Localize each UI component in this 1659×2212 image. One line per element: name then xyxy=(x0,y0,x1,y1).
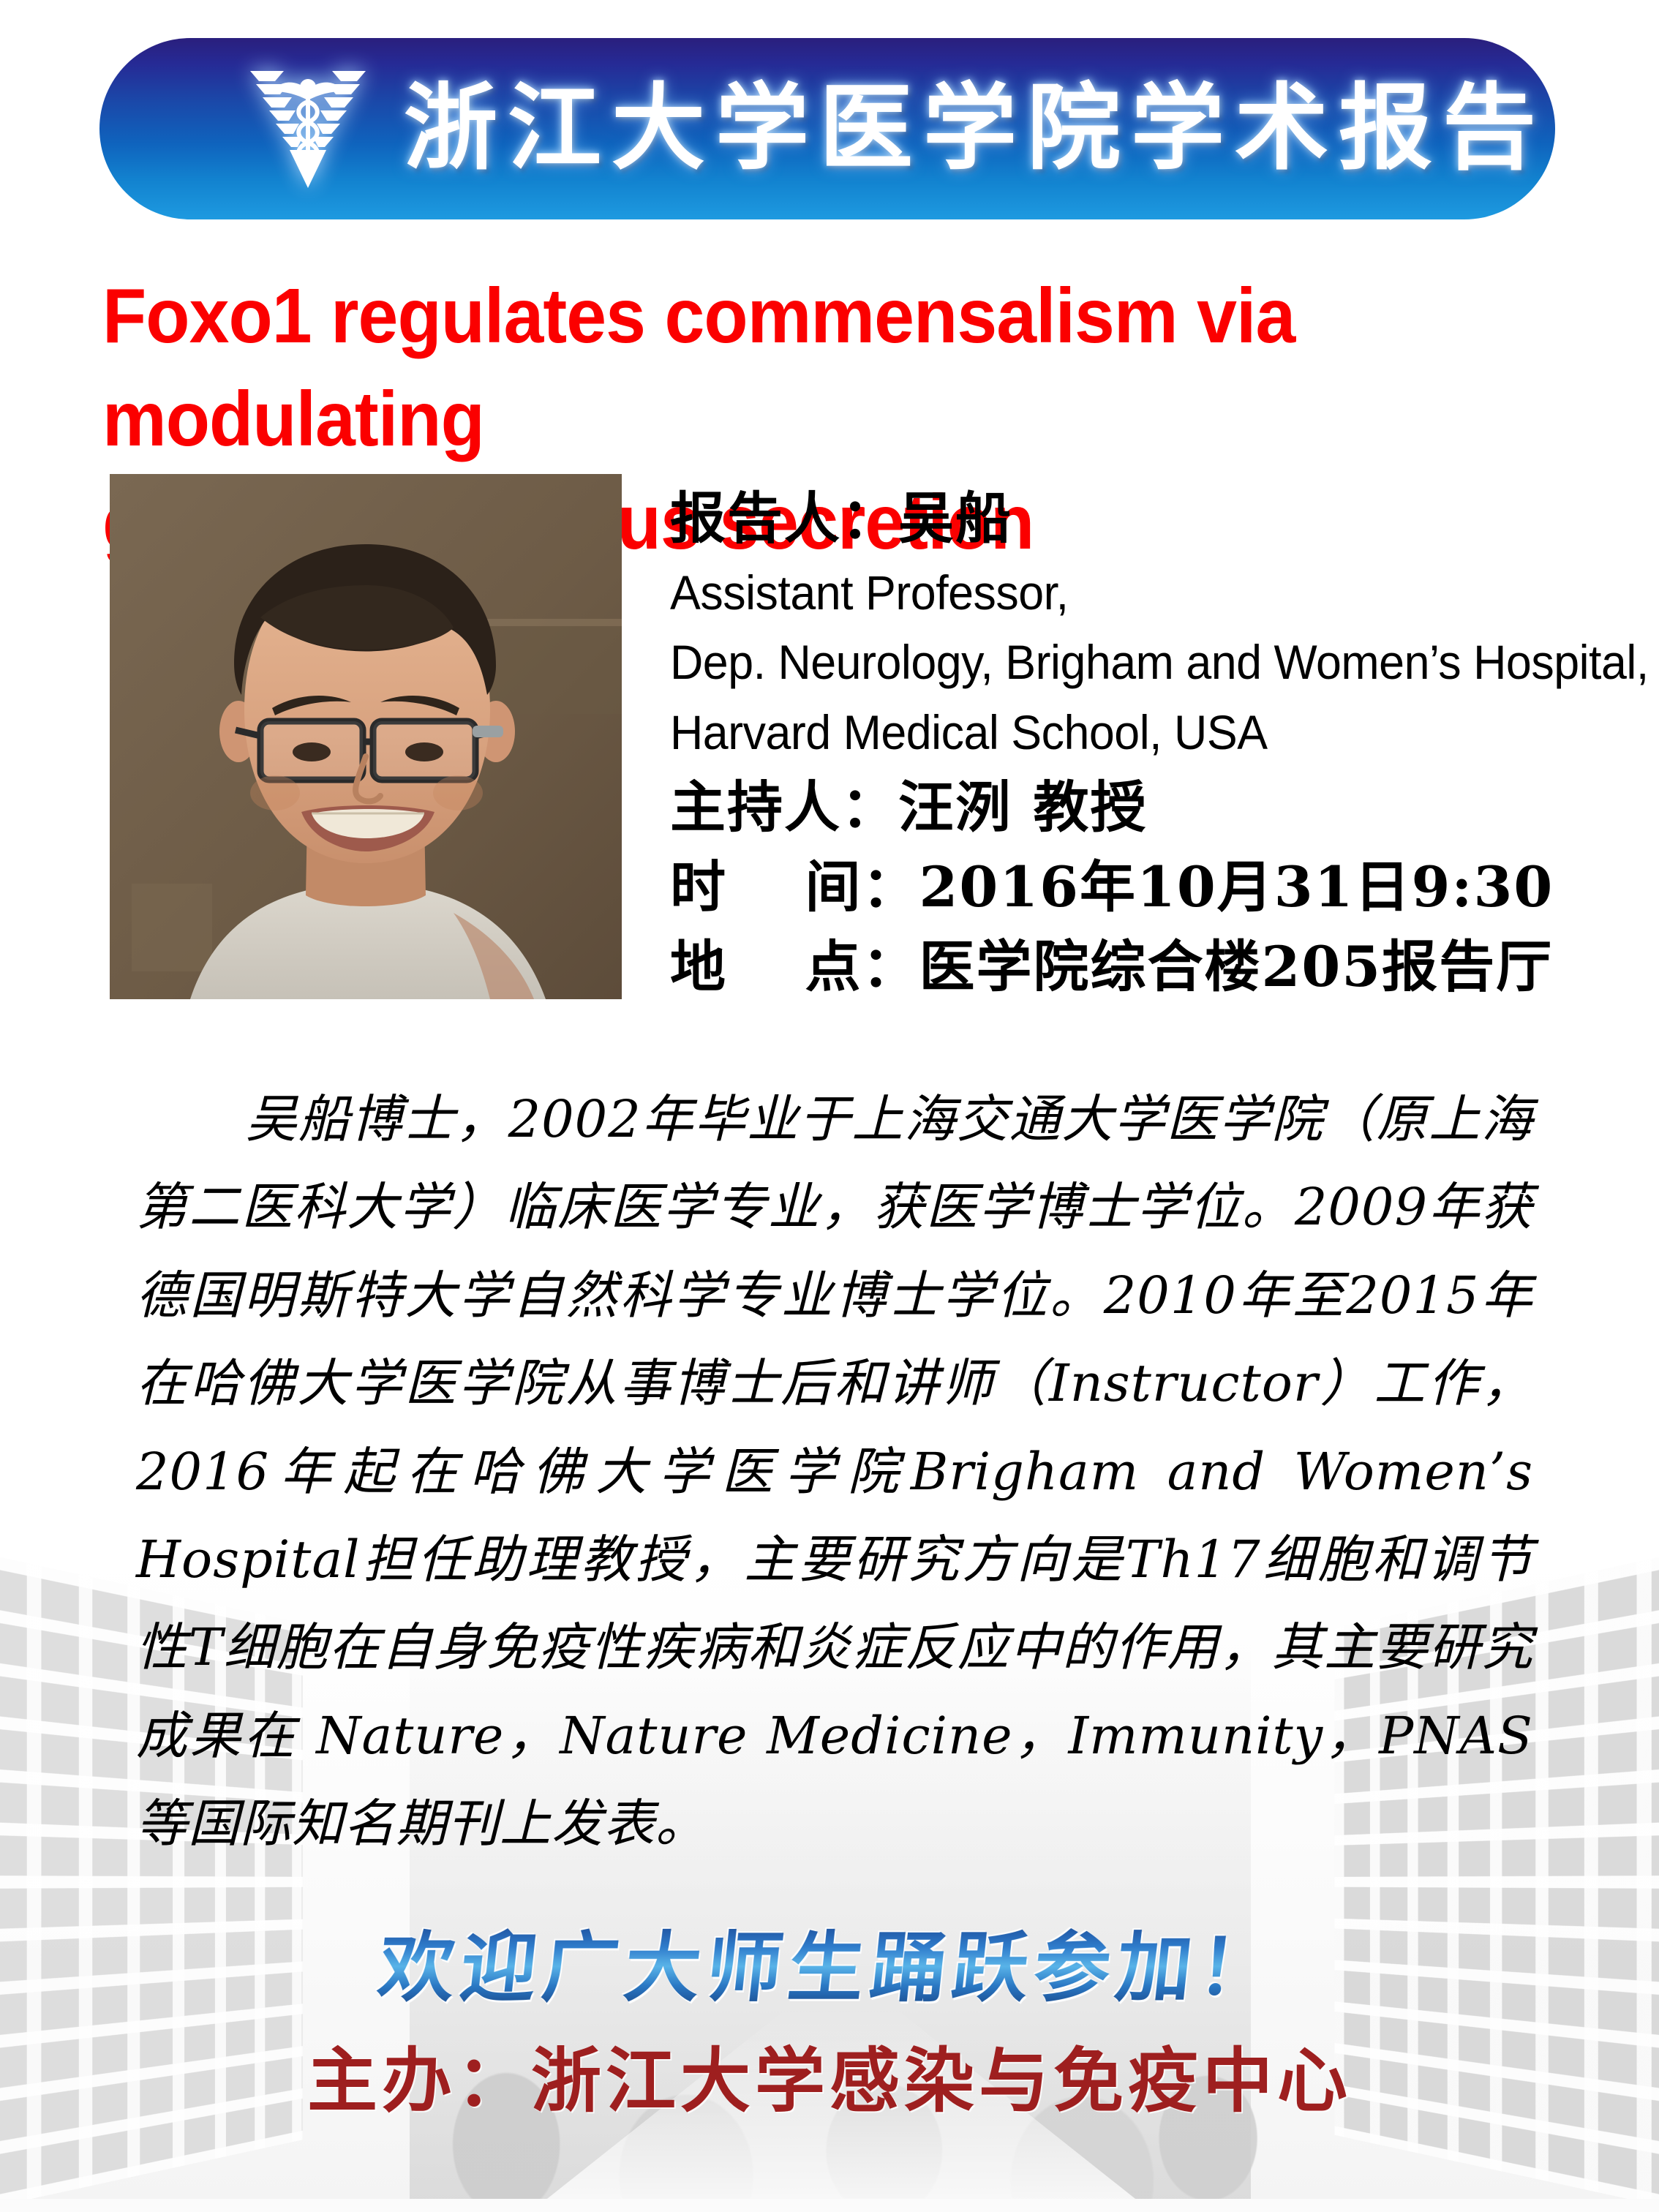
speaker-affiliation-line-1: Assistant Professor, xyxy=(670,558,1649,628)
speaker-section: 报告人：吴船 Assistant Professor, Dep. Neurolo… xyxy=(110,474,1573,1007)
speaker-affiliation-line-3: Harvard Medical School, USA xyxy=(670,698,1649,767)
venue-line: 地 点：医学院综合楼205报告厅 xyxy=(670,927,1659,1007)
header-banner-area: 浙江大学医学院学术报告 xyxy=(0,0,1659,241)
organizer-line: 主办：浙江大学感染与免疫中心 xyxy=(0,2024,1659,2126)
speaker-name-line: 报告人：吴船 xyxy=(670,478,1659,558)
speaker-affiliation-line-2: Dep. Neurology, Brigham and Women’s Hosp… xyxy=(670,628,1649,697)
caduceus-logo-icon xyxy=(246,59,370,198)
speaker-biography: 吴船博士，2002年毕业于上海交通大学医学院（原上海第二医科大学）临床医学专业，… xyxy=(136,1075,1533,1868)
watermark-base xyxy=(0,2199,1659,2212)
time-line: 时 间：2016年10月31日9:30 xyxy=(670,847,1659,927)
speaker-portrait-photo xyxy=(110,474,622,999)
talk-title-line-1: Foxo1 regulates commensalism via modulat… xyxy=(102,265,1470,471)
banner-title: 浙江大学医学院学术报告 xyxy=(404,82,1546,176)
speaker-details: 报告人：吴船 Assistant Professor, Dep. Neurolo… xyxy=(670,474,1659,1007)
host-line: 主持人：汪洌 教授 xyxy=(670,767,1659,847)
seminar-poster: 浙江大学医学院学术报告 Foxo1 regulates commensalism… xyxy=(0,0,1659,2212)
header-banner: 浙江大学医学院学术报告 xyxy=(99,38,1555,219)
welcome-message: 欢迎广大师生踊跃参加！ xyxy=(375,1924,1285,2012)
poster-footer: 欢迎广大师生踊跃参加！ 主办：浙江大学感染与免疫中心 xyxy=(0,1924,1659,2126)
